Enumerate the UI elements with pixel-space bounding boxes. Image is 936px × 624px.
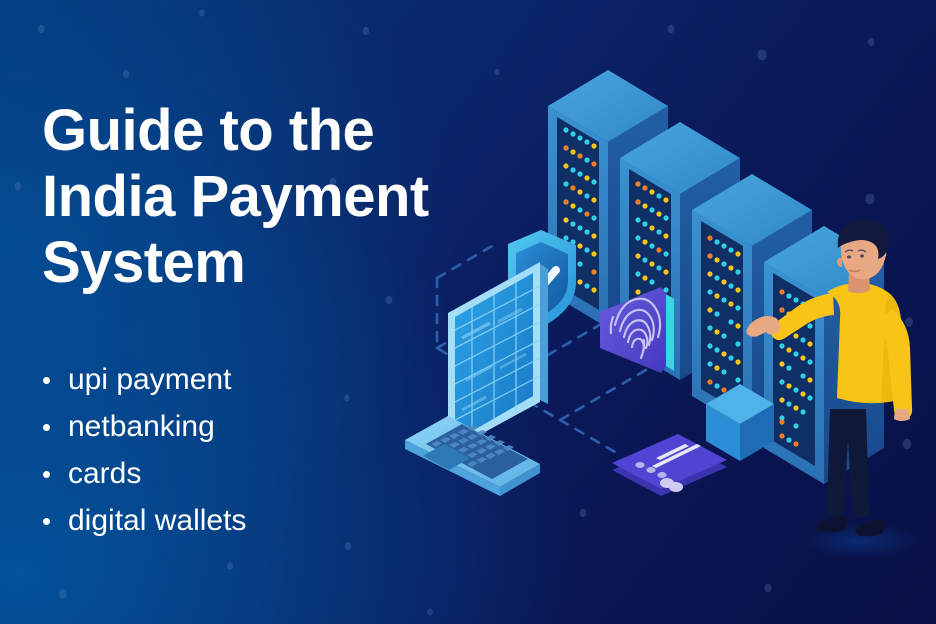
title-line-1: Guide to the bbox=[42, 98, 512, 164]
title-line-3: System bbox=[42, 230, 512, 296]
page-title: Guide to the India Payment System bbox=[42, 98, 512, 296]
title-line-2: India Payment bbox=[42, 164, 512, 230]
payment-methods-list: upi payment netbanking cards digital wal… bbox=[36, 356, 456, 544]
list-item-cards: cards bbox=[36, 450, 456, 497]
list-item-digital-wallets: digital wallets bbox=[36, 497, 456, 544]
banner-root: Guide to the India Payment System upi pa… bbox=[0, 0, 936, 624]
credit-card bbox=[612, 434, 727, 496]
list-item-upi-payment: upi payment bbox=[36, 356, 456, 403]
list-item-netbanking: netbanking bbox=[36, 403, 456, 450]
